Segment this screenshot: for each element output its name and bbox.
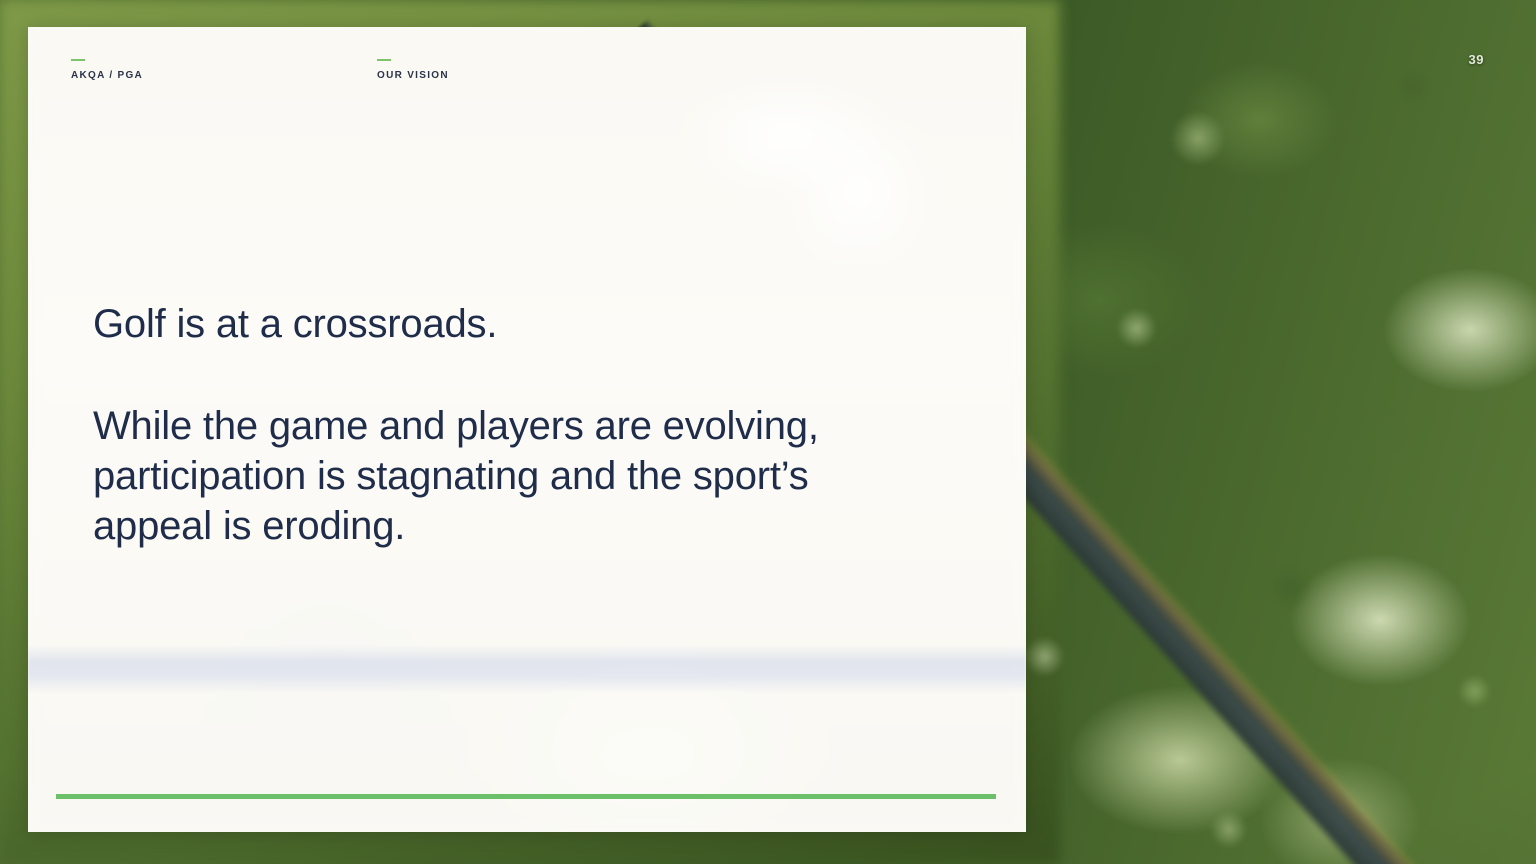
content-card: AKQA / PGA OUR VISION Golf is at a cross… — [28, 27, 1026, 832]
eyebrow-section-label: OUR VISION — [377, 70, 449, 81]
paragraph-supporting: While the game and players are evolving,… — [93, 401, 913, 551]
eyebrow-section: OUR VISION — [377, 59, 449, 81]
eyebrow-brand-label: AKQA / PGA — [71, 70, 143, 81]
page-number: 39 — [1469, 52, 1484, 67]
accent-rule — [56, 794, 996, 799]
presentation-slide: 39 AKQA / PGA OUR VISION Golf is at a cr… — [0, 0, 1536, 864]
paragraph-headline: Golf is at a crossroads. — [93, 299, 913, 349]
eyebrow-brand: AKQA / PGA — [71, 59, 143, 81]
accent-dash-icon — [377, 59, 391, 61]
scan-artifact-band — [28, 645, 1026, 693]
accent-dash-icon — [71, 59, 85, 61]
slide-body-copy: Golf is at a crossroads. While the game … — [93, 299, 913, 551]
